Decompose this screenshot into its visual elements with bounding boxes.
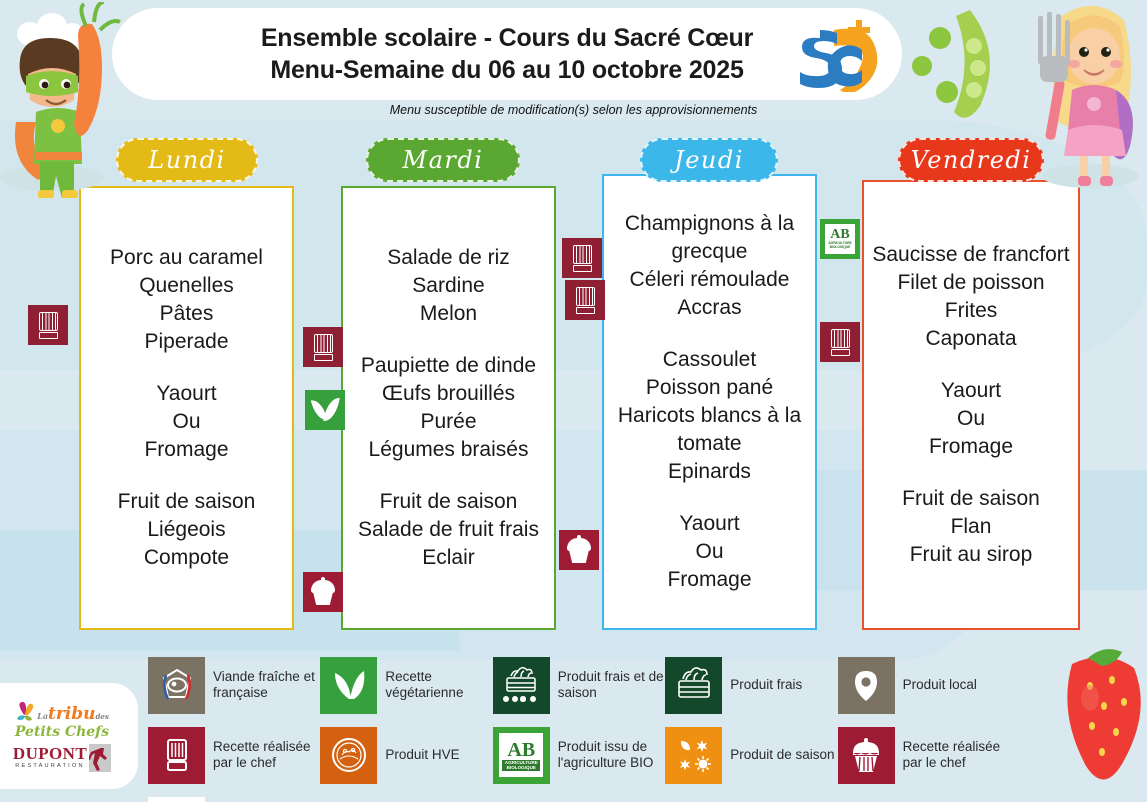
- day-label-jeudi: Jeudi: [674, 146, 744, 174]
- strawberry-decoration: [1060, 640, 1147, 802]
- day-label-mardi: Mardi: [403, 146, 484, 174]
- menu-group-main: Saucisse de francfort Filet de poisson F…: [870, 241, 1072, 353]
- ab-letters: AB: [507, 740, 535, 760]
- title-line-1: Ensemble scolaire - Cours du Sacré Cœur: [261, 22, 753, 54]
- menu-line: Compote: [87, 544, 286, 572]
- menu-line: Epinards: [610, 458, 809, 486]
- menu-line: Quenelles: [87, 272, 286, 300]
- menu-line: Légumes braisés: [349, 436, 548, 464]
- menu-group-entree: Champignons à la grecque Céleri rémoulad…: [610, 210, 809, 322]
- legend-label: Recette réalisée par le chef: [903, 739, 1010, 771]
- legend-item-produit-frais: Produit frais: [665, 650, 837, 720]
- crate-seasons-icon: [493, 657, 550, 714]
- cupcake-icon: [838, 727, 895, 784]
- dupont-name: DUPONT: [13, 746, 87, 762]
- menu-line: Yaourt: [610, 510, 809, 538]
- legend-label: Produit issu de l'agriculture BIO: [558, 739, 665, 771]
- leaf-icon: [320, 657, 377, 714]
- title-line-2: Menu-Semaine du 06 au 10 octobre 2025: [261, 54, 753, 86]
- menu-line: Yaourt: [87, 380, 286, 408]
- menu-line: Champignons à la grecque: [610, 210, 809, 266]
- tribu-logo: Latribudes: [15, 701, 109, 723]
- menu-group-dessert: Fruit de saison Salade de fruit frais Ec…: [349, 488, 548, 572]
- page-title: Ensemble scolaire - Cours du Sacré Cœur …: [261, 22, 753, 86]
- menu-line: Ou: [87, 408, 286, 436]
- menu-group-dairy: Yaourt Ou Fromage: [87, 380, 286, 464]
- chef-hat-icon: [576, 287, 595, 314]
- chef-hat-icon: [39, 312, 58, 339]
- header-card: Ensemble scolaire - Cours du Sacré Cœur …: [112, 8, 902, 100]
- tribu-butterfly-icon: [15, 701, 35, 723]
- badge-cupcake-mardi: [559, 530, 599, 570]
- ab-bio-icon: AB AGRICULTURE BIOLOGIQUE: [493, 727, 550, 784]
- menu-text-mardi: Salade de riz Sardine Melon Paupiette de…: [343, 240, 554, 575]
- menu-text-lundi: Porc au caramel Quenelles Pâtes Piperade…: [81, 240, 292, 575]
- hve-seal-icon: [320, 727, 377, 784]
- menu-column-vendredi: Saucisse de francfort Filet de poisson F…: [862, 180, 1080, 630]
- badge-bio-jeudi: AB AGRICULTURE BIOLOGIQUE: [820, 219, 860, 259]
- legend-label: Produit frais: [730, 677, 802, 693]
- legend-item-viande-fraiche: Viande fraîche et française: [148, 650, 320, 720]
- menu-line: Paupiette de dinde: [349, 352, 548, 380]
- menu-group-dessert: Fruit de saison Flan Fruit au sirop: [870, 485, 1072, 569]
- menu-line: Filet de poisson: [870, 269, 1072, 297]
- menu-line: Œufs brouillés: [349, 380, 548, 408]
- menu-group-entree: Porc au caramel Quenelles Pâtes Piperade: [87, 244, 286, 356]
- menu-column-jeudi: Champignons à la grecque Céleri rémoulad…: [602, 174, 817, 630]
- badge-chef-mardi-2: [565, 280, 605, 320]
- legend-item-recette-chef-patissier: Recette réalisée par le chef: [838, 720, 1010, 790]
- badge-chef-jeudi: [820, 322, 860, 362]
- menu-group-entree: Salade de riz Sardine Melon: [349, 244, 548, 328]
- legend-item-bio: AB AGRICULTURE BIOLOGIQUE Produit issu d…: [493, 720, 665, 790]
- menu-line: Liégeois: [87, 516, 286, 544]
- menu-group-dairy: Yaourt Ou Fromage: [870, 377, 1072, 461]
- ab-line-2: BIOLOGIQUE: [502, 765, 540, 771]
- badge-chef-lundi-2: [303, 327, 343, 367]
- menu-line: Haricots blancs à la tomate: [610, 402, 809, 458]
- chef-hat-icon: [314, 334, 333, 361]
- menu-line: Fromage: [87, 436, 286, 464]
- menu-line: Fruit de saison: [87, 488, 286, 516]
- day-badge-jeudi[interactable]: Jeudi: [640, 138, 778, 182]
- menu-line: Poisson pané: [610, 374, 809, 402]
- legend-item-recette-chef: Recette réalisée par le chef: [148, 720, 320, 790]
- menu-line: Flan: [870, 513, 1072, 541]
- menu-poster: Ensemble scolaire - Cours du Sacré Cœur …: [0, 0, 1147, 802]
- day-badge-lundi[interactable]: Lundi: [116, 138, 258, 182]
- menu-line: Céleri rémoulade: [610, 266, 809, 294]
- modification-note: Menu susceptible de modification(s) selo…: [0, 103, 1147, 117]
- menu-line: Porc au caramel: [87, 244, 286, 272]
- legend-item-frais-saison: Produit frais et de saison: [493, 650, 665, 720]
- chef-hat-icon: [573, 245, 592, 272]
- legend-label: Viande fraîche et française: [213, 669, 320, 701]
- day-label-lundi: Lundi: [148, 146, 225, 174]
- badge-veg-mardi: [305, 390, 345, 430]
- legend-label: Produit de saison: [730, 747, 834, 763]
- menu-line: Salade de riz: [349, 244, 548, 272]
- day-badge-mardi[interactable]: Mardi: [366, 138, 520, 182]
- menu-group-dessert: Fruit de saison Liégeois Compote: [87, 488, 286, 572]
- badge-cupcake-lundi: [303, 572, 343, 612]
- menu-text-jeudi: Champignons à la grecque Céleri rémoulad…: [604, 206, 815, 597]
- menu-line: Fromage: [870, 433, 1072, 461]
- sacre-coeur-logo-icon: [790, 20, 885, 92]
- menu-line: Fromage: [610, 566, 809, 594]
- menu-line: Fruit au sirop: [870, 541, 1072, 569]
- menu-line: Ou: [870, 405, 1072, 433]
- legend-label: Produit local: [903, 677, 977, 693]
- badge-chef-lundi-1: [28, 305, 68, 345]
- four-seasons-icon: [665, 727, 722, 784]
- menu-group-main: Paupiette de dinde Œufs brouillés Purée …: [349, 352, 548, 464]
- label-rouge-icon: lab ouge LABEL ROUGE: [148, 797, 205, 802]
- legend-label: Produit HVE: [385, 747, 459, 763]
- tribu-subtitle: Petits Chefs: [15, 725, 109, 739]
- day-badge-vendredi[interactable]: Vendredi: [898, 138, 1044, 182]
- menu-group-main: Cassoulet Poisson pané Haricots blancs à…: [610, 346, 809, 486]
- menu-line: Salade de fruit frais: [349, 516, 548, 544]
- menu-line: Cassoulet: [610, 346, 809, 374]
- menu-line: Melon: [349, 300, 548, 328]
- meat-icon: [148, 657, 205, 714]
- dupont-logo: DUPONT RESTAURATION: [13, 744, 111, 772]
- crate-icon: [665, 657, 722, 714]
- menu-line: Yaourt: [870, 377, 1072, 405]
- menu-line: Saucisse de francfort: [870, 241, 1072, 269]
- legend-label: Produit frais et de saison: [558, 669, 665, 701]
- menu-line: Caponata: [870, 325, 1072, 353]
- menu-column-mardi: Salade de riz Sardine Melon Paupiette de…: [341, 186, 556, 630]
- day-label-vendredi: Vendredi: [911, 146, 1032, 174]
- map-pin-icon: [838, 657, 895, 714]
- menu-line: Purée: [349, 408, 548, 436]
- chef-hat-icon: [831, 329, 850, 356]
- legend: Viande fraîche et française Recette végé…: [148, 650, 1010, 790]
- legend-item-vegetarienne: Recette végétarienne: [320, 650, 492, 720]
- brand-logo-card: Latribudes Petits Chefs DUPONT RESTAURAT…: [0, 683, 138, 789]
- menu-line: Sardine: [349, 272, 548, 300]
- legend-item-hve: Produit HVE: [320, 720, 492, 790]
- menu-text-vendredi: Saucisse de francfort Filet de poisson F…: [864, 237, 1078, 572]
- badge-chef-mardi-1: [562, 238, 602, 278]
- dupont-subtitle: RESTAURATION: [13, 763, 87, 769]
- leaf-icon: [312, 397, 338, 423]
- legend-item-produit-local: Produit local: [838, 650, 1010, 720]
- cupcake-icon: [310, 579, 336, 605]
- menu-line: Eclair: [349, 544, 548, 572]
- menu-line: Frites: [870, 297, 1072, 325]
- menu-line: Piperade: [87, 328, 286, 356]
- legend-item-produit-saison: Produit de saison: [665, 720, 837, 790]
- menu-line: Ou: [610, 538, 809, 566]
- menu-column-lundi: Porc au caramel Quenelles Pâtes Piperade…: [79, 186, 294, 630]
- tribu-text: Latribudes: [37, 706, 109, 723]
- legend-label: Recette réalisée par le chef: [213, 739, 320, 771]
- chef-hat-icon: [148, 727, 205, 784]
- menu-line: Accras: [610, 294, 809, 322]
- cupcake-icon: [566, 537, 592, 563]
- menu-line: Fruit de saison: [349, 488, 548, 516]
- menu-line: Fruit de saison: [870, 485, 1072, 513]
- menu-group-dairy: Yaourt Ou Fromage: [610, 510, 809, 594]
- ab-bio-icon: AB AGRICULTURE BIOLOGIQUE: [825, 224, 855, 254]
- legend-label: Recette végétarienne: [385, 669, 492, 701]
- dupont-figure-icon: [89, 744, 111, 772]
- legend-item-label-rouge: lab ouge LABEL ROUGE Produit Label Rouge: [148, 790, 320, 802]
- menu-line: Pâtes: [87, 300, 286, 328]
